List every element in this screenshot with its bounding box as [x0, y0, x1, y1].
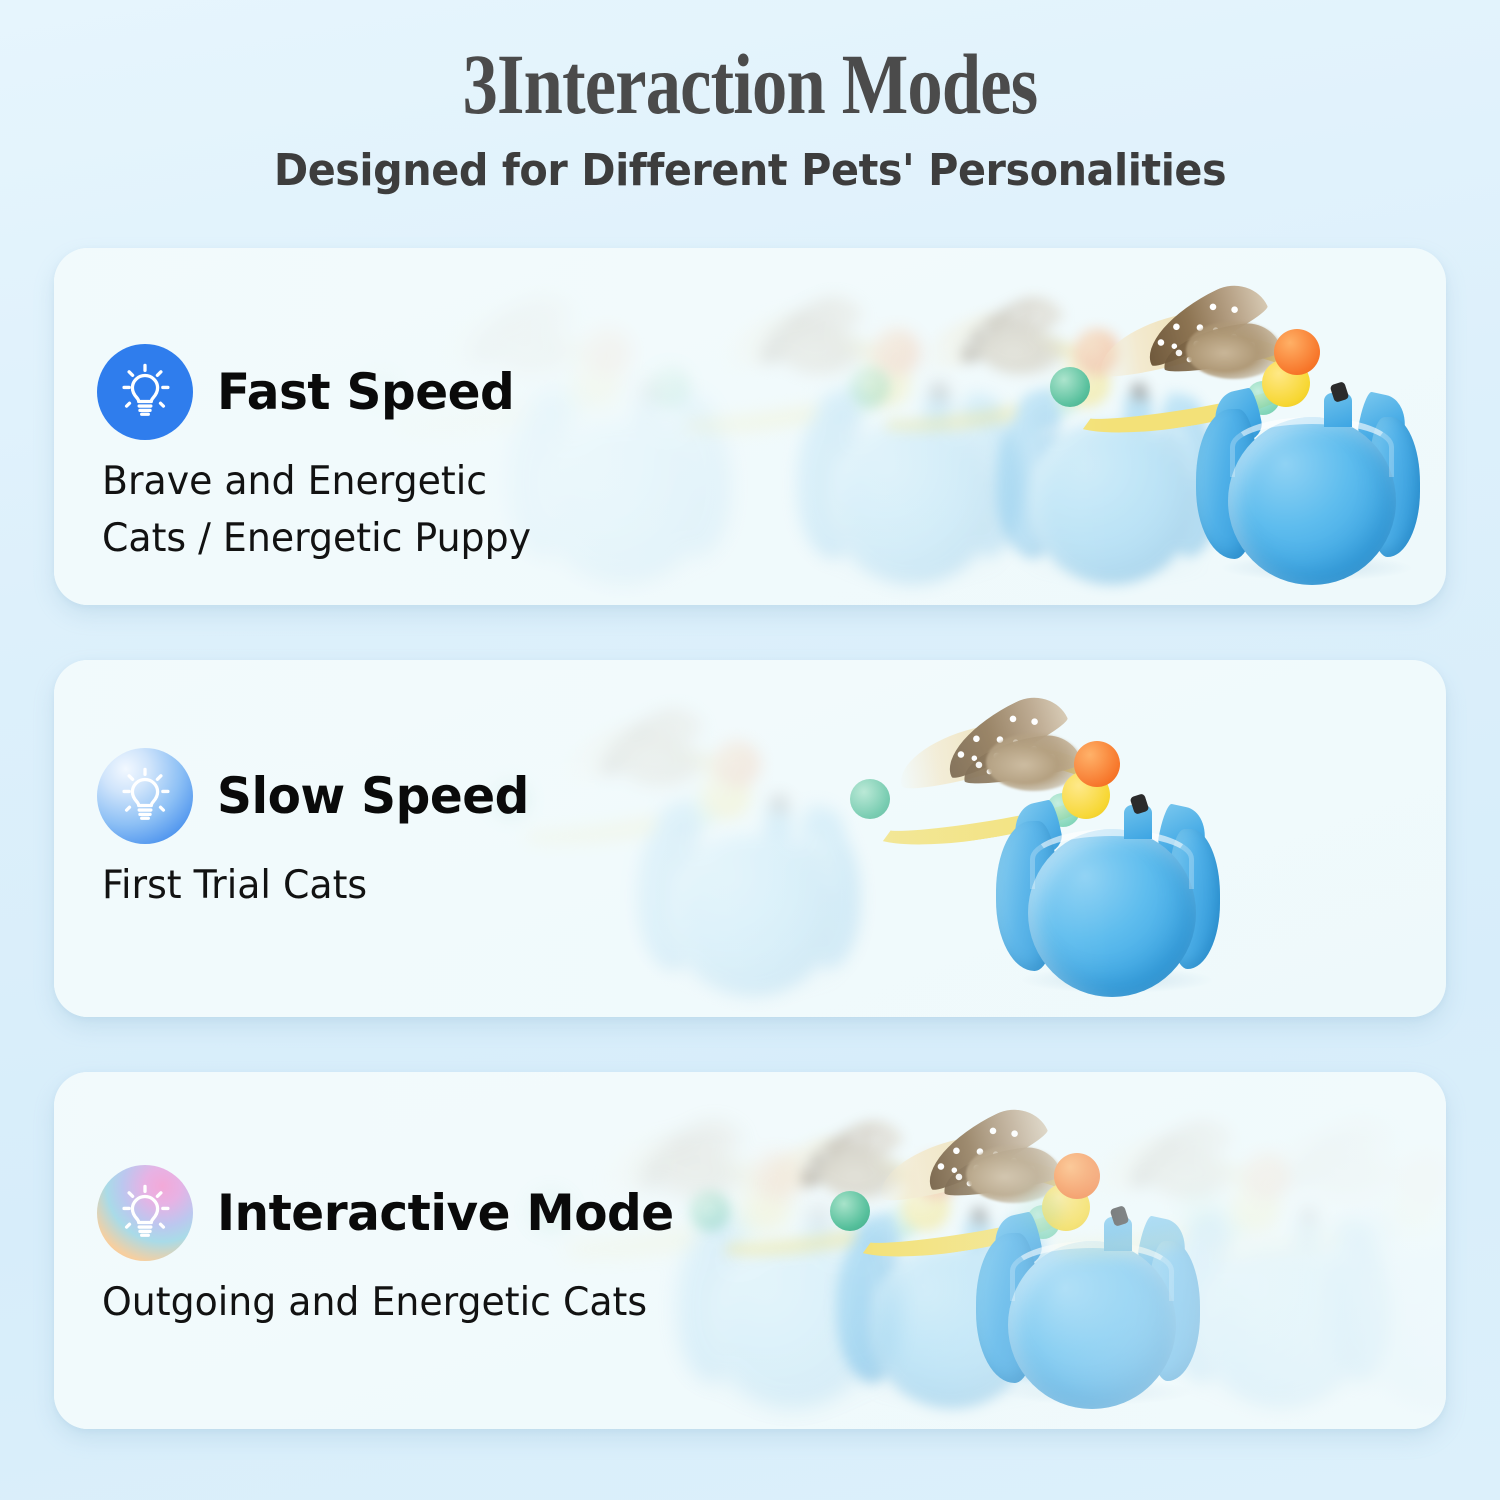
toy-product-image: [954, 1129, 1254, 1429]
mode-description: Brave and Energetic Cats / Energetic Pup…: [102, 454, 718, 567]
lightbulb-icon: [97, 344, 193, 440]
mode-title: Interactive Mode: [217, 1188, 674, 1238]
mode-title: Slow Speed: [217, 771, 529, 821]
mode-description-line-1: First Trial Cats: [102, 858, 718, 915]
mode-card-fast-speed[interactable]: Fast Speed Brave and Energetic Cats / En…: [54, 248, 1446, 605]
mode-description-line-1: Brave and Energetic: [102, 454, 718, 511]
page-header: 3Interaction Modes Designed for Differen…: [0, 0, 1500, 196]
toy-product-image: [974, 717, 1274, 1017]
toy-ghost: [974, 305, 1274, 605]
mode-title: Fast Speed: [217, 367, 514, 417]
mode-card-interactive-mode[interactable]: Interactive Mode Outgoing and Energetic …: [54, 1072, 1446, 1429]
mode-description: Outgoing and Energetic Cats: [102, 1275, 718, 1332]
page-subtitle: Designed for Different Pets' Personaliti…: [45, 145, 1455, 196]
page-title: 3Interaction Modes: [135, 38, 1365, 131]
toy-ghost: [774, 305, 1074, 605]
mode-description: First Trial Cats: [102, 858, 718, 915]
mode-info-slow-speed: Slow Speed First Trial Cats: [97, 660, 737, 1017]
mode-card-slow-speed[interactable]: Slow Speed First Trial Cats: [54, 660, 1446, 1017]
toy-ghost: [814, 1129, 1114, 1429]
mode-description-line-2: Cats / Energetic Puppy: [102, 511, 718, 568]
mode-info-fast-speed: Fast Speed Brave and Energetic Cats / En…: [97, 248, 737, 605]
toy-ghost: [1304, 1129, 1446, 1429]
lightbulb-icon: [97, 748, 193, 844]
toy-ghost: [1144, 1129, 1444, 1429]
mode-card-list: Fast Speed Brave and Energetic Cats / En…: [0, 248, 1500, 1484]
mode-description-line-1: Outgoing and Energetic Cats: [102, 1275, 718, 1332]
mode-info-interactive-mode: Interactive Mode Outgoing and Energetic …: [97, 1072, 737, 1429]
toy-product-image: [1174, 305, 1446, 605]
lightbulb-icon: [97, 1165, 193, 1261]
